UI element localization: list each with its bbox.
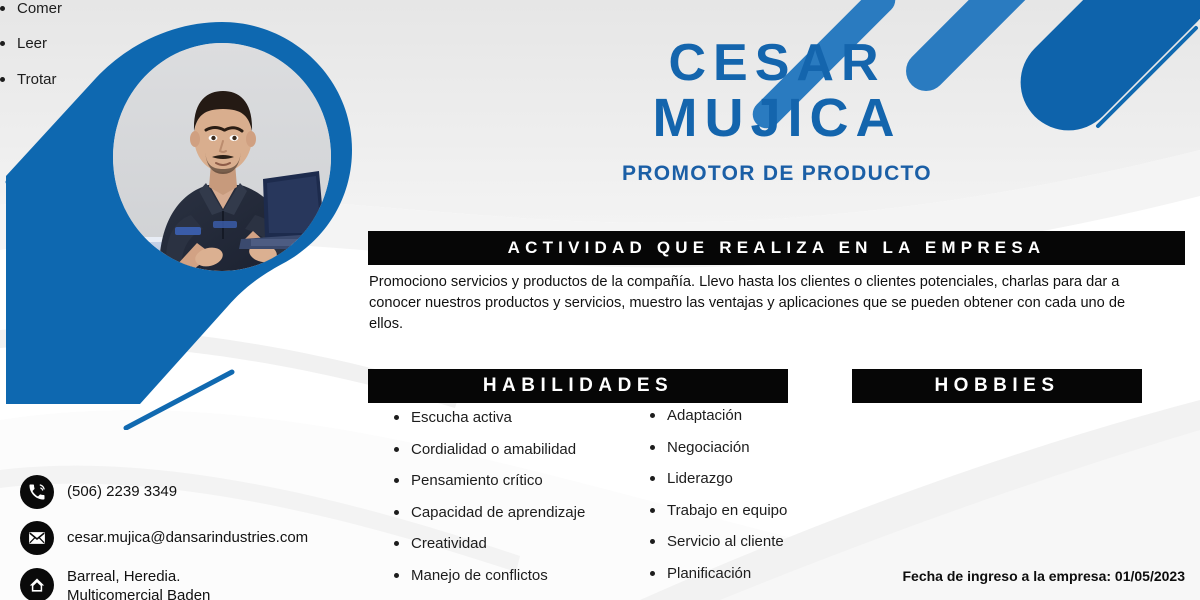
cv-card: CESAR MUJICA PROMOTOR DE PRODUCTO ACTIVI… (0, 0, 1200, 600)
contact-phone-row: (506) 2239 3349 (20, 475, 360, 509)
list-item: Pensamiento crítico (394, 472, 644, 489)
list-item: Comer (0, 0, 250, 17)
phone-icon (20, 475, 54, 509)
list-item: Creatividad (394, 535, 644, 552)
actividad-body-text: Promociono servicios y productos de la c… (369, 272, 1159, 335)
habilidades-section-header: HABILIDADES (368, 369, 788, 403)
address-line-2: Multicomercial Baden (67, 587, 210, 600)
list-item: Capacidad de aprendizaje (394, 504, 644, 521)
list-item: Negociación (650, 439, 900, 456)
first-name: CESAR (368, 36, 1186, 90)
actividad-section-header: ACTIVIDAD QUE REALIZA EN LA EMPRESA (368, 231, 1185, 265)
hobbies-list: Comer Leer Trotar (0, 0, 250, 88)
phone-number: (506) 2239 3349 (67, 482, 177, 501)
list-item: Trabajo en equipo (650, 502, 900, 519)
last-name: MUJICA (368, 90, 1186, 146)
email-address: cesar.mujica@dansarindustries.com (67, 528, 308, 547)
list-item: Escucha activa (394, 409, 644, 426)
list-item: Adaptación (650, 407, 900, 424)
name-block: CESAR MUJICA PROMOTOR DE PRODUCTO (368, 36, 1186, 186)
list-item: Servicio al cliente (650, 533, 900, 550)
list-item: Leer (0, 35, 250, 52)
job-title: PROMOTOR DE PRODUCTO (368, 162, 1186, 186)
envelope-icon (20, 521, 54, 555)
hobbies-section-header: HOBBIES (852, 369, 1142, 403)
list-item: Trotar (0, 71, 250, 88)
contact-email-row: cesar.mujica@dansarindustries.com (20, 521, 360, 555)
fecha-ingreso: Fecha de ingreso a la empresa: 01/05/202… (0, 568, 1185, 584)
list-item: Cordialidad o amabilidad (394, 441, 644, 458)
list-item: Liderazgo (650, 470, 900, 487)
